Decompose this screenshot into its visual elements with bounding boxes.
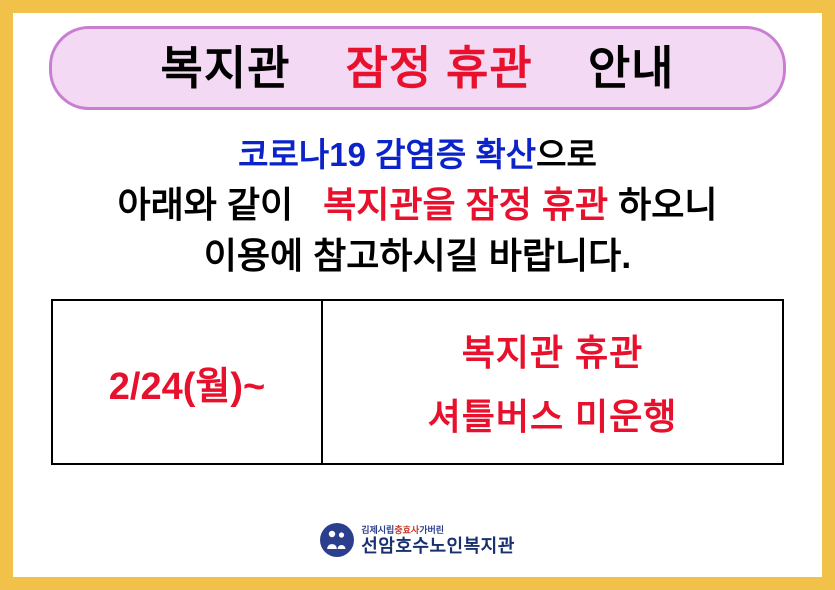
body-line-2: 아래와 같이 복지관을 잠정 휴관 하오니	[35, 179, 800, 230]
table-cell-notice: 복지관 휴관 셔틀버스 미운행	[323, 301, 782, 463]
logo-tagline: 김제시립충효사가버린	[361, 526, 515, 535]
body-line-2-tail: 하오니	[618, 184, 717, 225]
organization-name: 선암호수노인복지관	[361, 537, 515, 555]
notice-item-1: 복지관 휴관	[462, 324, 644, 376]
title-part-highlight: 잠정 휴관	[346, 42, 533, 94]
body-line-2-highlight: 복지관을 잠정 휴관	[323, 184, 608, 225]
notice-item-2: 셔틀버스 미운행	[428, 388, 678, 440]
body-line-2-head: 아래와 같이	[117, 184, 293, 225]
logo-text-group: 김제시립충효사가버린 선암호수노인복지관	[361, 526, 515, 555]
page-title: 복지관 잠정 휴관 안내	[161, 45, 675, 91]
body-line-1-tail: 으로	[536, 136, 597, 173]
body-line-3: 이용에 참고하시길 바랍니다.	[35, 230, 800, 281]
poster-inner: 복지관 잠정 휴관 안내 코로나19 감염증 확산으로 아래와 같이 복지관을 …	[13, 13, 822, 577]
body-line-1: 코로나19 감염증 확산으로	[35, 132, 800, 179]
logo-tagline-suffix: 가버린	[419, 525, 444, 535]
logo-tagline-accent: 충효사	[394, 525, 419, 535]
logo-tagline-prefix: 김제시립	[361, 525, 394, 535]
footer-logo: 김제시립충효사가버린 선암호수노인복지관	[35, 523, 800, 567]
people-icon	[320, 523, 354, 557]
table-cell-date: 2/24(월)~	[53, 301, 323, 463]
body-paragraph: 코로나19 감염증 확산으로 아래와 같이 복지관을 잠정 휴관 하오니 이용에…	[35, 132, 800, 281]
title-part-2: 안내	[588, 42, 675, 94]
title-banner: 복지관 잠정 휴관 안내	[49, 26, 786, 110]
poster-container: 복지관 잠정 휴관 안내 코로나19 감염증 확산으로 아래와 같이 복지관을 …	[0, 0, 835, 590]
notice-table: 2/24(월)~ 복지관 휴관 셔틀버스 미운행	[51, 299, 784, 465]
closure-date-value: 2/24(월)~	[109, 355, 265, 410]
body-line-1-highlight: 코로나19 감염증 확산	[238, 136, 536, 173]
title-part-1: 복지관	[161, 42, 291, 94]
